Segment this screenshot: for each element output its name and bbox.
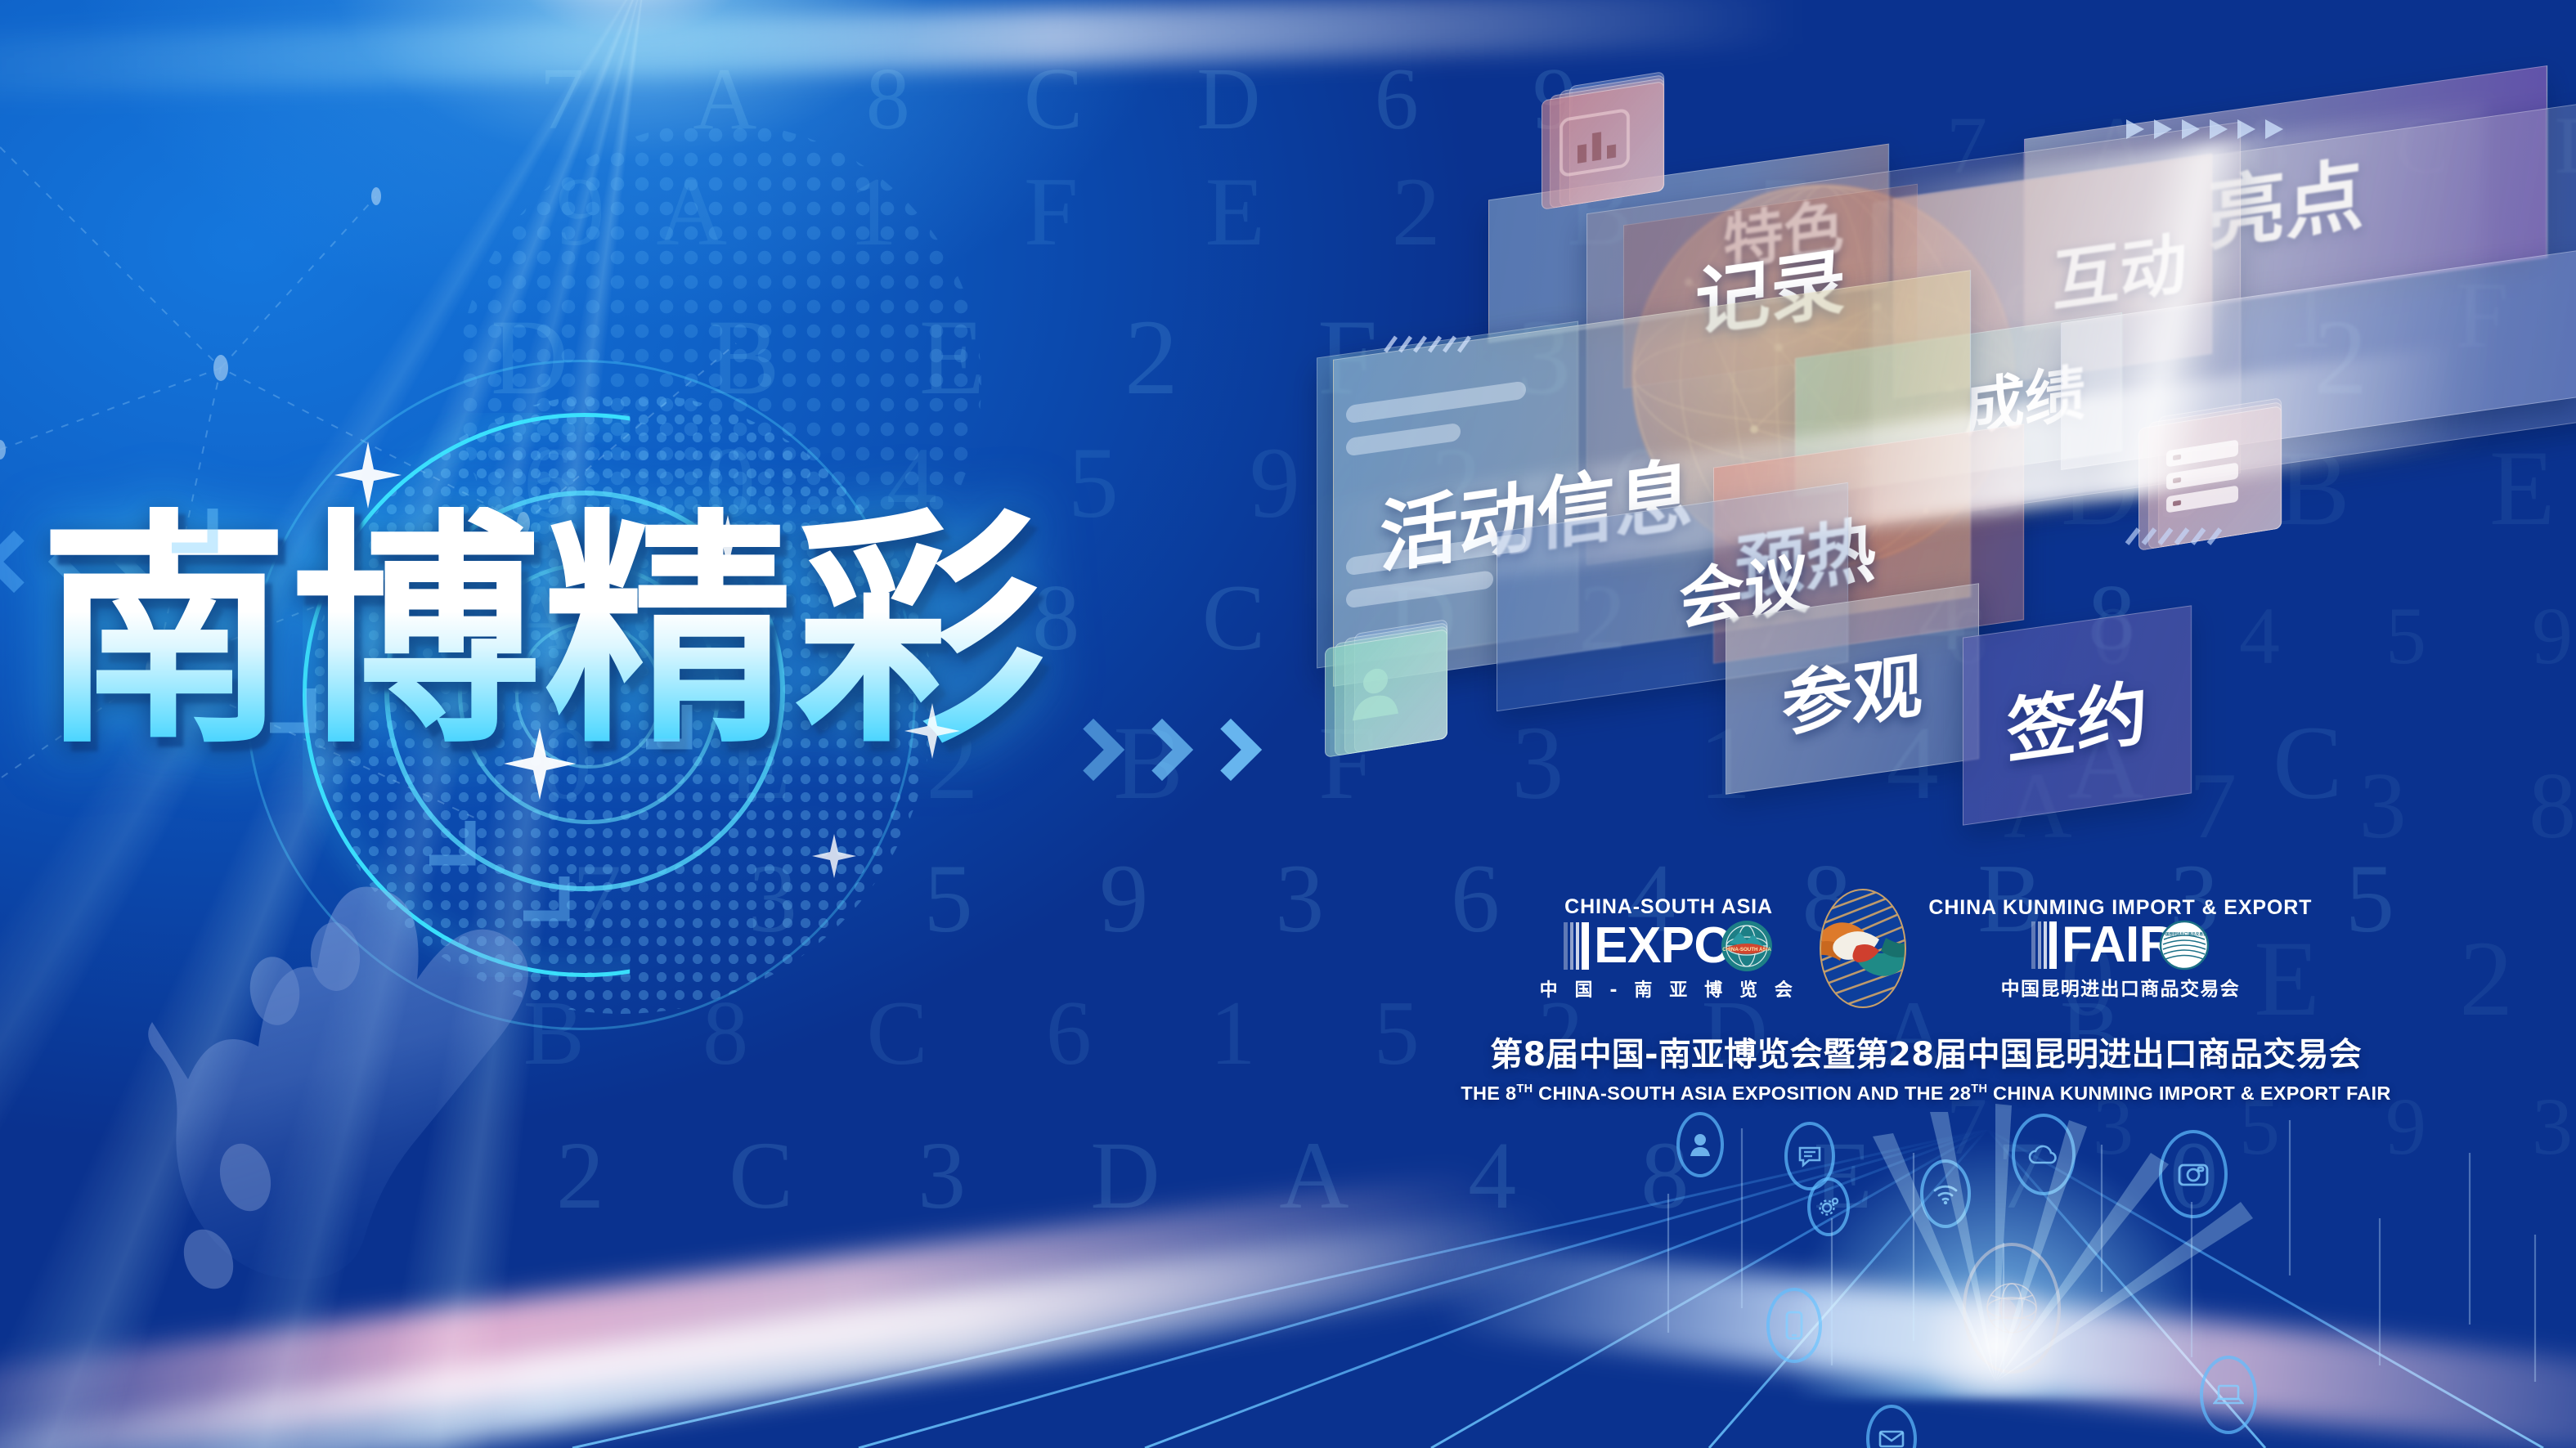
- svg-text:中国昆明进出口商品交易会: 中国昆明进出口商品交易会: [2161, 931, 2207, 937]
- chart-card-icon: [1542, 76, 1664, 210]
- headline-en-sup2: TH: [1971, 1083, 1987, 1096]
- camera-icon: [2159, 1130, 2228, 1218]
- logo-row: CHINA-SOUTH ASIA EXPO CHINA-SOUTH ASIA: [1427, 887, 2425, 1010]
- panel-canguan[interactable]: 参观: [1726, 583, 1979, 795]
- panel-qianyue[interactable]: 签约: [1963, 605, 2192, 825]
- chevron-right-group: [1071, 728, 1253, 772]
- headline-chinese: 第8届中国-南亚博览会暨第28届中国昆明进出口商品交易会: [1427, 1028, 2425, 1075]
- expo-top-line: CHINA-SOUTH ASIA: [1564, 895, 1773, 919]
- user-card-icon: [1325, 624, 1447, 758]
- svg-text:CHINA-SOUTH ASIA: CHINA-SOUTH ASIA: [1722, 947, 1771, 953]
- headline-en-sup1: TH: [1516, 1083, 1533, 1096]
- poster-canvas: 7 A 8 C D 6 99A 1 F E 2 B 7D B E 2 F 3 D…: [0, 0, 2576, 1448]
- handshake-emblem-icon: [1809, 887, 1917, 1010]
- expo-logo: CHINA-SOUTH ASIA EXPO CHINA-SOUTH ASIA: [1540, 895, 1798, 1002]
- user-glyph-icon: [1343, 655, 1408, 728]
- fair-bars-icon: [2031, 921, 2057, 969]
- expo-bottom-line: 中 国 - 南 亚 博 览 会: [1540, 975, 1798, 1002]
- bar-chart-icon: [1560, 105, 1630, 182]
- user-icon: [1676, 1112, 1724, 1177]
- expo-bars-icon: [1564, 922, 1589, 970]
- fair-bottom-line: 中国昆明进出口商品交易会: [2001, 973, 2241, 1001]
- expo-word: EXPO: [1594, 922, 1733, 969]
- globe-icon: [1963, 1243, 2061, 1374]
- server-card-icon: [2138, 401, 2282, 551]
- wifi-icon: [1920, 1159, 1971, 1228]
- logo-lockup: CHINA-SOUTH ASIA EXPO CHINA-SOUTH ASIA: [1427, 887, 2425, 1105]
- page-title: 南博精彩: [39, 507, 1047, 756]
- fair-logo: CHINA KUNMING IMPORT & EXPORT FAIR 中国昆明进…: [1928, 896, 2312, 1001]
- panel-canguan-label: 参观: [1782, 628, 1923, 750]
- headline-en-c: CHINA KUNMING IMPORT & EXPORT FAIR: [1987, 1083, 2390, 1104]
- panel-qianyue-label: 签约: [2007, 654, 2147, 776]
- expo-emblem-icon: CHINA-SOUTH ASIA: [1720, 919, 1774, 973]
- headline-en-b: CHINA-SOUTH ASIA EXPOSITION AND THE 28: [1533, 1083, 1971, 1104]
- laptop-icon: [2200, 1356, 2257, 1434]
- cloud-icon: [2012, 1114, 2076, 1195]
- gear-icon: [1807, 1177, 1850, 1236]
- fair-emblem-icon: 中国昆明进出口商品交易会: [2159, 920, 2210, 971]
- headline-en-a: THE 8: [1461, 1083, 1516, 1104]
- server-glyph-icon: [2160, 430, 2245, 522]
- headline-english: THE 8TH CHINA-SOUTH ASIA EXPOSITION AND …: [1427, 1083, 2425, 1105]
- phone-icon: [1766, 1288, 1822, 1363]
